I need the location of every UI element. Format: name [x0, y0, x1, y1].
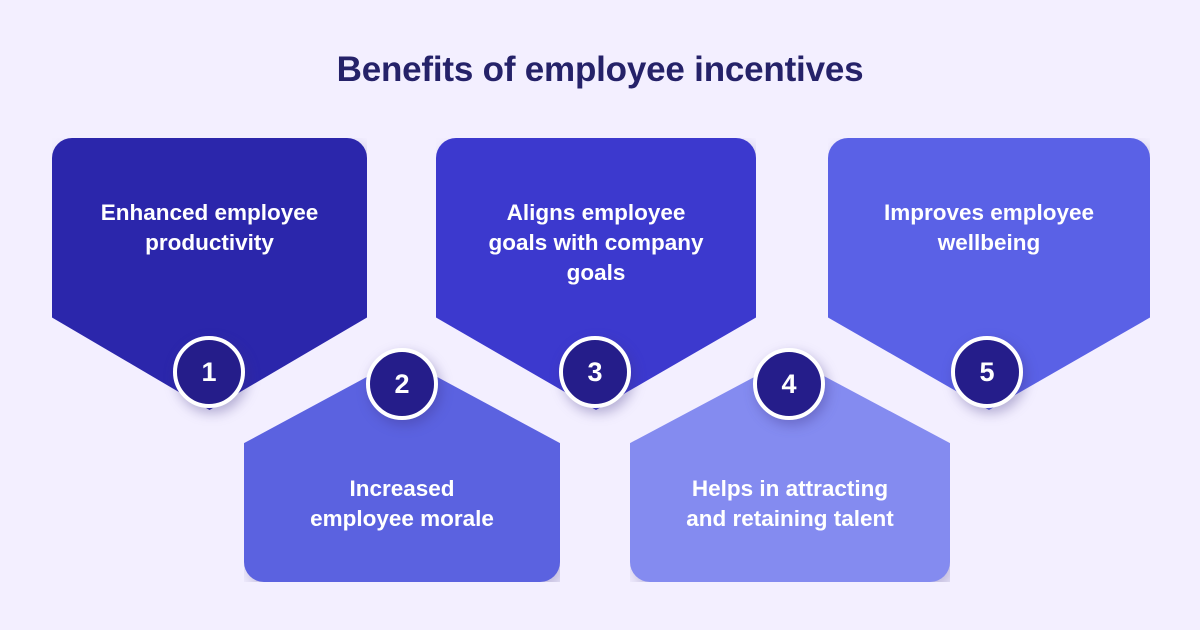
step-badge-4: 4: [753, 348, 825, 420]
step-badge-5: 5: [951, 336, 1023, 408]
benefit-card-1-label: Enhanced employee productivity: [101, 138, 319, 258]
step-badge-2: 2: [366, 348, 438, 420]
benefit-card-5-label: Improves employee wellbeing: [884, 138, 1094, 258]
step-badge-1: 1: [173, 336, 245, 408]
benefits-diagram: Enhanced employee productivity Increased…: [0, 0, 1200, 630]
benefit-card-3-label: Aligns employee goals with company goals: [488, 138, 703, 288]
step-badge-3: 3: [559, 336, 631, 408]
